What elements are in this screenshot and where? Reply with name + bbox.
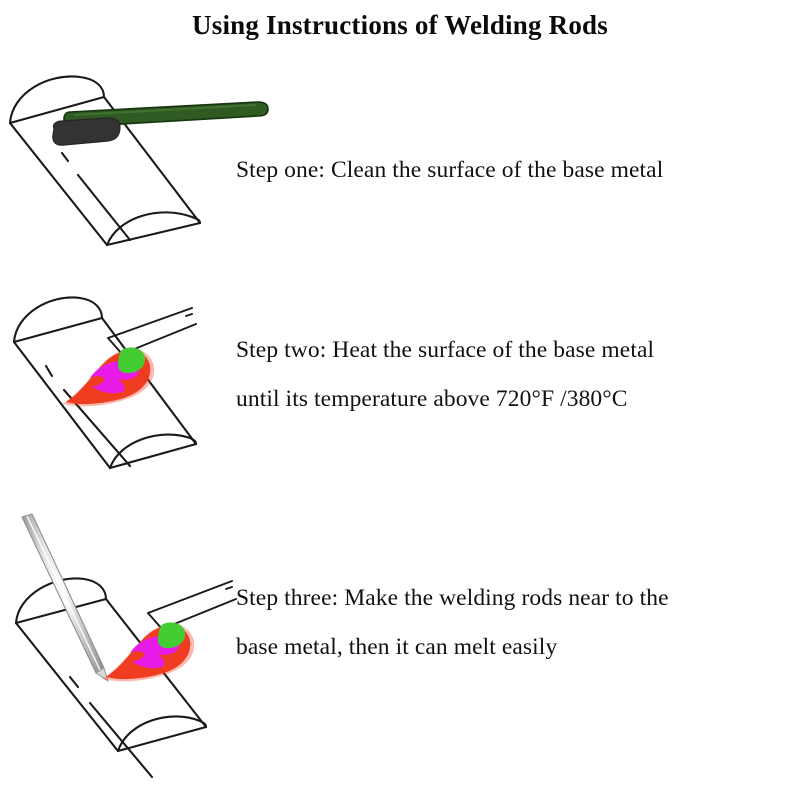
torch-flame [102, 622, 194, 681]
instruction-sheet: Using Instructions of Welding Rods [0, 0, 800, 800]
step-one-text-line1: Step one: Clean the surface of the base … [236, 157, 663, 184]
black-brush-bristles [53, 118, 120, 145]
torch-flame [62, 347, 154, 406]
step-three-text-line1: Step three: Make the welding rods near t… [236, 585, 669, 612]
base-metal-pipe [10, 76, 200, 245]
step-three-text-line2: base metal, then it can melt easily [236, 634, 557, 661]
page-title: Using Instructions of Welding Rods [0, 10, 800, 41]
step-two-text-line1: Step two: Heat the surface of the base m… [236, 337, 654, 364]
torch-nozzle [108, 308, 196, 354]
step-two-text-line2: until its temperature above 720°F /380°C [236, 386, 628, 413]
torch-nozzle [148, 581, 236, 629]
welding-rod [22, 514, 108, 681]
